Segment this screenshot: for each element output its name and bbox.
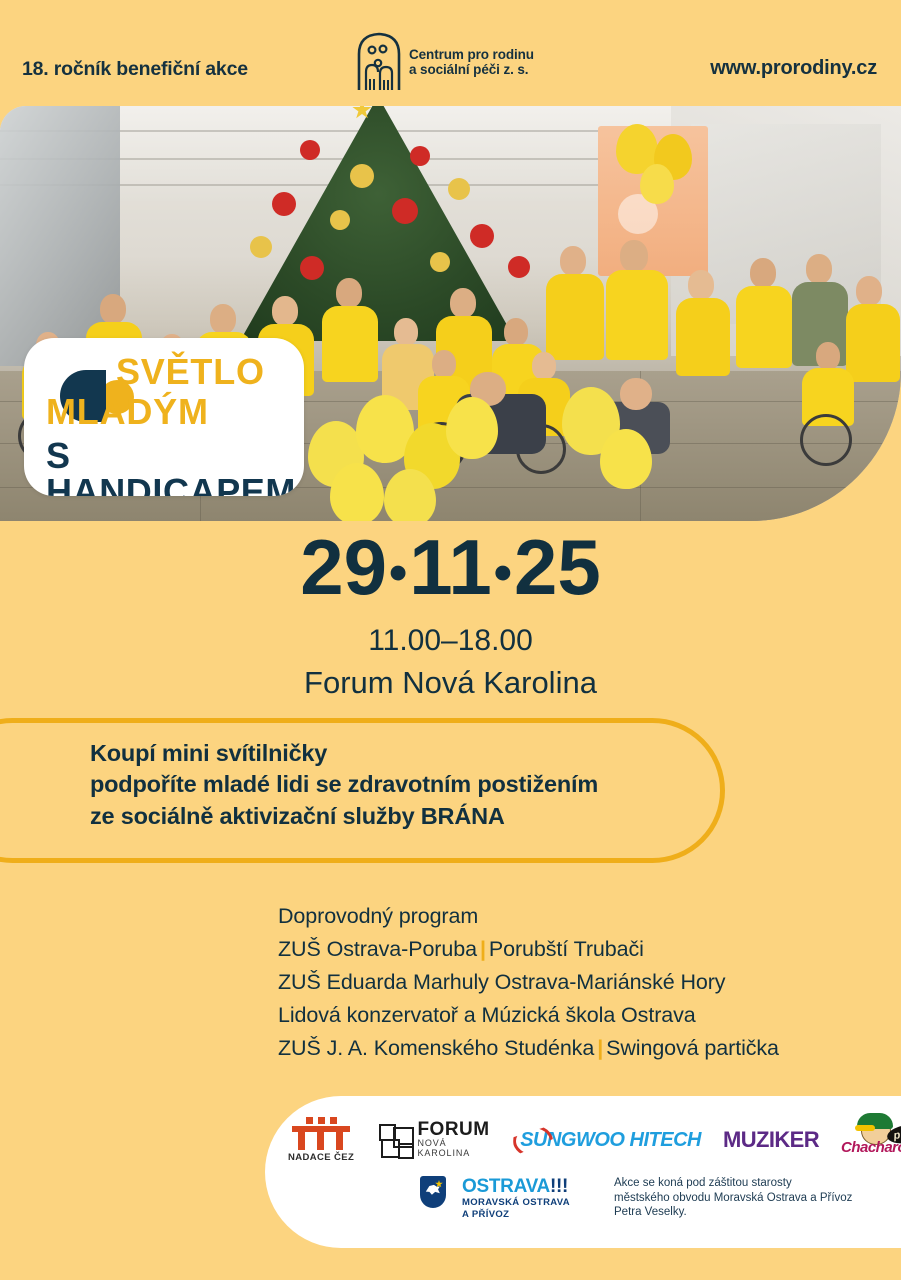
sponsor-name: Chacharova	[841, 1139, 901, 1156]
poster-root: 18. ročník benefiční akce Centrum pro ro…	[0, 0, 901, 1280]
sponsor-name: MUZIKER	[723, 1127, 819, 1153]
program-item-extra: Swingová partička	[606, 1036, 779, 1060]
person-head	[450, 288, 476, 318]
sponsor-logo-row: NADACE ČEZ FORUM NOVÁ KAROLINA	[285, 1114, 901, 1166]
program-item-separator: |	[477, 937, 489, 961]
person-head	[394, 318, 418, 346]
city-name-row: OSTRAVA!!!	[462, 1176, 570, 1197]
centrum-pro-rodinu-icon	[356, 32, 402, 92]
sponsor-name: NADACE ČEZ	[285, 1152, 357, 1163]
person-head	[532, 352, 556, 380]
tree-bauble	[448, 178, 470, 200]
event-date: 29•11•25	[0, 528, 901, 606]
wheelchair-wheel	[800, 414, 852, 466]
yellow-balloon	[330, 463, 384, 521]
sponsor-muziker[interactable]: MUZIKER	[723, 1127, 819, 1153]
sungwoo-wordmark: SUNGWOO HITECH	[520, 1129, 701, 1152]
tree-bauble	[410, 146, 430, 166]
chachar-cap-peak-icon	[855, 1125, 875, 1131]
organizer-name: Centrum pro rodinu a sociální péči z. s.	[409, 47, 534, 77]
tree-bauble	[300, 140, 320, 160]
tree-bauble	[272, 192, 296, 216]
person-shirt	[736, 286, 792, 368]
program-item-separator: |	[594, 1036, 606, 1060]
edition-label: 18. ročník benefiční akce	[22, 58, 248, 81]
sponsor-sungwoo-hitech[interactable]: SUNGWOO HITECH	[520, 1129, 701, 1152]
website-url[interactable]: www.prorodiny.cz	[710, 57, 877, 80]
patronage-text: Akce se koná pod záštitou starosty městs…	[614, 1176, 852, 1220]
organizer-name-line2: a sociální péči z. s.	[409, 62, 534, 77]
tree-bauble	[392, 198, 418, 224]
person-shirt	[546, 274, 604, 360]
person-head	[336, 278, 362, 308]
nadace-cez-mark	[292, 1126, 350, 1150]
program-block: Doprovodný program ZUŠ Ostrava-Poruba|Po…	[278, 900, 878, 1066]
date-separator: •	[492, 544, 514, 602]
organizer-name-line1: Centrum pro rodinu	[409, 47, 534, 62]
poster-header: 18. ročník benefiční akce Centrum pro ro…	[0, 0, 901, 106]
person-head	[210, 304, 236, 334]
organizer-logo: Centrum pro rodinu a sociální péči z. s.	[356, 32, 534, 92]
sponsor-chacharova-pizza[interactable]: pizza Chacharova	[841, 1117, 901, 1163]
patronage-line-2: městského obvodu Moravská Ostrava a Přív…	[614, 1191, 852, 1206]
program-item: ZUŠ J. A. Komenského Studénka|Swingová p…	[278, 1032, 878, 1065]
patronage-row: OSTRAVA!!! MORAVSKÁ OSTRAVA A PŘÍVOZ Akc…	[420, 1176, 852, 1221]
date-separator: •	[387, 544, 409, 602]
program-item-main: Lidová konzervatoř a Múzická škola Ostra…	[278, 1003, 696, 1027]
city-exclamations: !!!	[550, 1176, 568, 1197]
city-district-line2: A PŘÍVOZ	[462, 1209, 570, 1221]
person-head	[816, 342, 840, 370]
event-venue: Forum Nová Karolina	[0, 665, 901, 701]
city-name: OSTRAVA	[462, 1176, 550, 1197]
sponsor-name: FORUM	[417, 1121, 498, 1139]
callout-line-2: podpoříte mladé lidi se zdravotním posti…	[90, 769, 730, 800]
badge-line-svetlo: SVĚTLO	[116, 354, 265, 390]
forum-squares-icon	[379, 1124, 411, 1156]
person-shirt	[606, 270, 668, 360]
program-item-main: ZUŠ J. A. Komenského Studénka	[278, 1036, 594, 1060]
person-shirt	[322, 306, 378, 382]
nadace-cez-icon	[285, 1117, 357, 1124]
sponsor-subtitle: NOVÁ KAROLINA	[417, 1139, 498, 1159]
campaign-logo-badge: SVĚTLO MLADÝM S HANDICAPEM	[24, 338, 304, 496]
yellow-balloon	[640, 164, 674, 204]
program-item-main: ZUŠ Ostrava-Poruba	[278, 937, 477, 961]
city-wordmark: OSTRAVA!!! MORAVSKÁ OSTRAVA A PŘÍVOZ	[462, 1176, 570, 1221]
program-item: ZUŠ Eduarda Marhuly Ostrava-Mariánské Ho…	[278, 966, 878, 999]
person-head	[620, 240, 648, 272]
patronage-line-1: Akce se koná pod záštitou starosty	[614, 1176, 852, 1191]
person-head	[856, 276, 882, 306]
date-month: 11	[409, 523, 491, 611]
ostrava-crest-icon	[420, 1176, 446, 1208]
callout-message: Koupí mini svítilničky podpoříte mladé l…	[90, 738, 730, 832]
person-head	[806, 254, 832, 284]
yellow-balloon	[600, 429, 652, 489]
callout-line-3: ze sociálně aktivizační služby BRÁNA	[90, 801, 730, 832]
person-head	[504, 318, 528, 346]
person-head	[560, 246, 586, 276]
badge-line-s-handicapem: S HANDICAPEM	[46, 438, 304, 496]
program-item: Lidová konzervatoř a Múzická škola Ostra…	[278, 999, 878, 1032]
event-time: 11.00–18.00	[0, 624, 901, 659]
badge-line-mladym: MLADÝM	[46, 394, 209, 430]
date-year: 25	[514, 523, 601, 611]
city-district-line1: MORAVSKÁ OSTRAVA	[462, 1197, 570, 1209]
person-head	[100, 294, 126, 324]
callout-line-1: Koupí mini svítilničky	[90, 738, 730, 769]
person-head	[272, 296, 298, 326]
sponsor-nadace-cez[interactable]: NADACE ČEZ	[285, 1117, 357, 1163]
person-head	[688, 270, 714, 300]
program-item-main: ZUŠ Eduarda Marhuly Ostrava-Mariánské Ho…	[278, 970, 725, 994]
yellow-balloon	[446, 397, 498, 459]
sponsor-forum-nova-karolina[interactable]: FORUM NOVÁ KAROLINA	[379, 1121, 498, 1159]
patronage-line-3: Petra Veselky.	[614, 1205, 852, 1220]
forum-wordmark: FORUM NOVÁ KAROLINA	[417, 1121, 498, 1159]
person-shirt	[846, 304, 900, 382]
program-title: Doprovodný program	[278, 900, 878, 933]
program-item: ZUŠ Ostrava-Poruba|Porubští Trubači	[278, 933, 878, 966]
chacharova-logo: pizza Chacharova	[841, 1117, 901, 1163]
sponsors-panel: NADACE ČEZ FORUM NOVÁ KAROLINA	[265, 1096, 901, 1248]
tree-bauble	[350, 164, 374, 188]
event-date-block: 29•11•25 11.00–18.00 Forum Nová Karolina	[0, 528, 901, 700]
balloon-cluster	[300, 377, 630, 521]
person-head	[750, 258, 776, 288]
program-item-extra: Porubští Trubači	[489, 937, 644, 961]
date-day: 29	[300, 523, 387, 611]
person-head	[432, 350, 456, 378]
person-shirt	[676, 298, 730, 376]
